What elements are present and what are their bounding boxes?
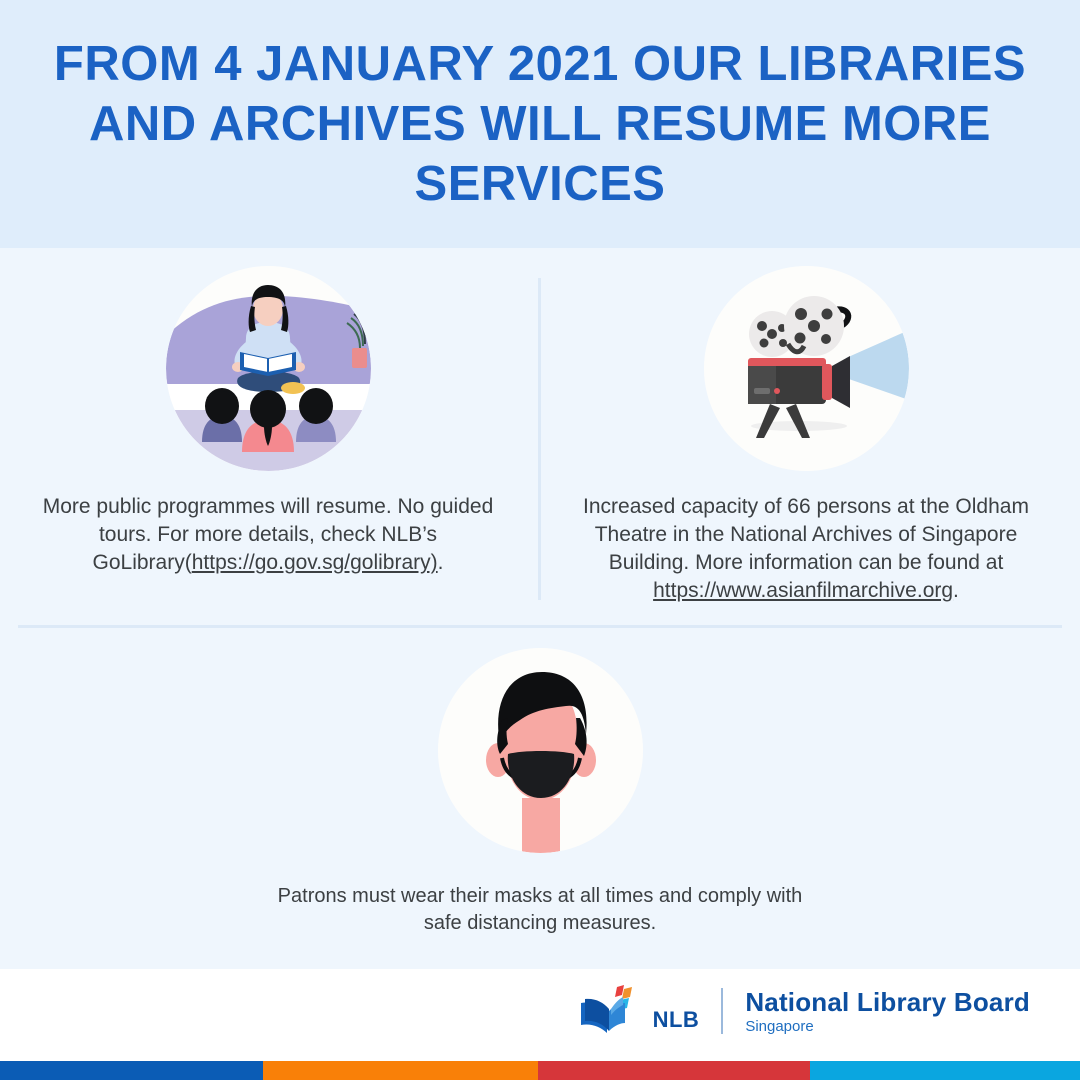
illustration-wrapper: [265, 648, 815, 853]
nlb-mark-svg: [577, 983, 647, 1039]
organisation-country: Singapore: [745, 1017, 1030, 1036]
organisation-name: National Library Board: [745, 987, 1030, 1017]
logo-separator: [721, 988, 723, 1034]
header-banner: FROM 4 JANUARY 2021 OUR LIBRARIES AND AR…: [0, 0, 1080, 248]
infographic-page: FROM 4 JANUARY 2021 OUR LIBRARIES AND AR…: [0, 0, 1080, 1080]
illustration-wrapper: [28, 266, 508, 471]
projector-svg: [704, 266, 909, 471]
content-area: More public programmes will resume. No g…: [0, 248, 1080, 969]
page-title: FROM 4 JANUARY 2021 OUR LIBRARIES AND AR…: [40, 34, 1040, 214]
nlb-book-icon: [577, 983, 647, 1039]
illustration-wrapper: [556, 266, 1056, 471]
movie-projector-illustration: [704, 266, 909, 471]
nlb-abbreviation: NLB: [653, 1007, 700, 1033]
storytime-reading-illustration: [166, 266, 371, 471]
card-oldham-theatre: Increased capacity of 66 persons at the …: [556, 266, 1056, 605]
nlb-logo: NLB National Library Board Singapore: [577, 983, 1030, 1039]
footer-bar: NLB National Library Board Singapore: [0, 969, 1080, 1061]
caption-text: Increased capacity of 66 persons at the …: [583, 495, 1029, 574]
caption-tail: .: [953, 579, 959, 602]
stripe-band-cyan: [810, 1061, 1080, 1080]
caption-tail: .: [438, 551, 444, 574]
color-stripe: [0, 1061, 1080, 1080]
storytime-svg: [166, 266, 371, 471]
stripe-band-blue: [0, 1061, 263, 1080]
stripe-band-red: [538, 1061, 810, 1080]
logo-wordmark: National Library Board Singapore: [745, 987, 1030, 1036]
card-caption: Patrons must wear their masks at all tim…: [265, 883, 815, 937]
masked-person-illustration: [438, 648, 643, 853]
masked-person-svg: [438, 648, 643, 853]
caption-text: Patrons must wear their masks at all tim…: [278, 885, 803, 934]
stripe-band-orange: [263, 1061, 538, 1080]
golibrary-link[interactable]: https://go.gov.sg/golibrary): [192, 551, 438, 574]
horizontal-divider: [18, 625, 1062, 628]
card-public-programmes: More public programmes will resume. No g…: [28, 266, 508, 577]
vertical-divider: [538, 278, 541, 600]
card-caption: Increased capacity of 66 persons at the …: [556, 493, 1056, 605]
asianfilmarchive-link[interactable]: https://www.asianfilmarchive.org: [653, 579, 953, 602]
card-caption: More public programmes will resume. No g…: [28, 493, 508, 577]
card-mask-safe-distancing: Patrons must wear their masks at all tim…: [265, 648, 815, 937]
